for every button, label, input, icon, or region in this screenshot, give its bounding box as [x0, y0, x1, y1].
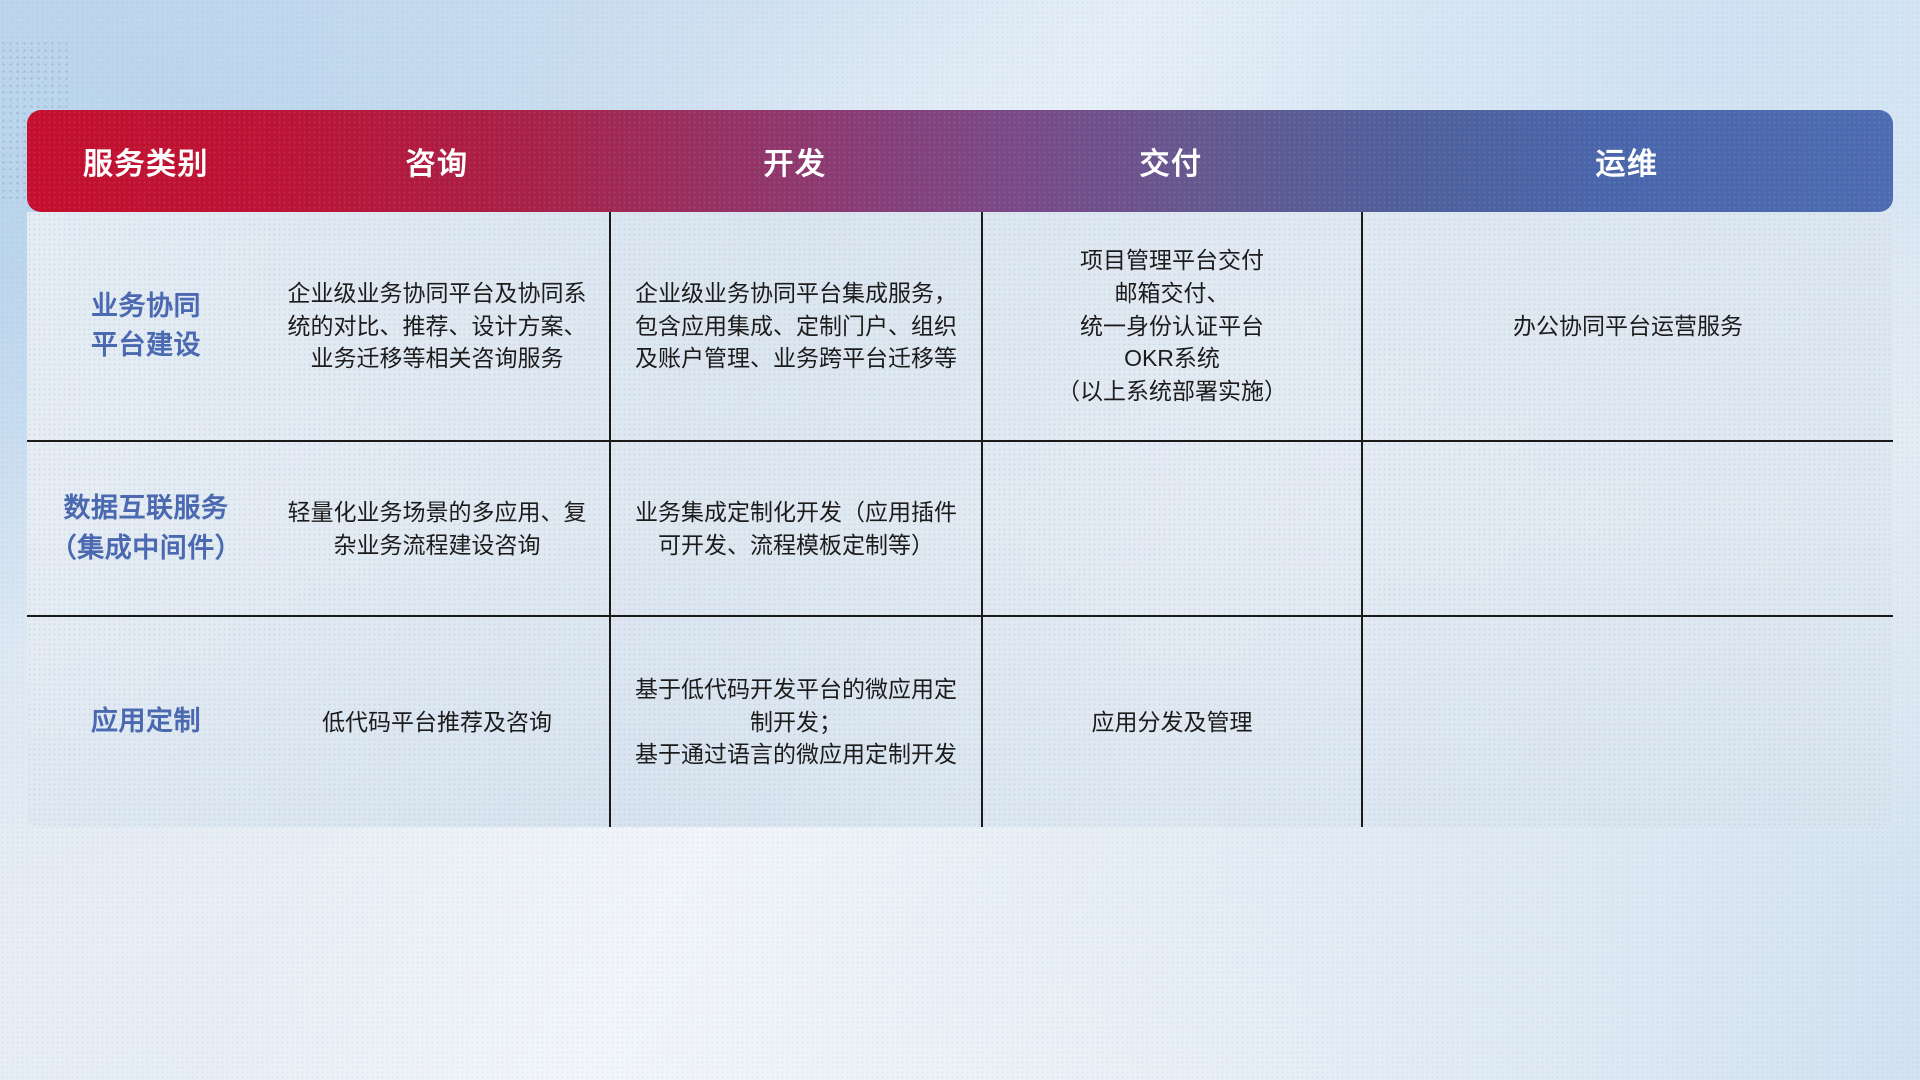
service-matrix-table: 服务类别 咨询 开发 交付 运维 业务协同 平台建设 企业级业务协同平台及协同系…: [27, 110, 1893, 827]
cell-operations: [1361, 442, 1893, 615]
column-header-category: 服务类别: [27, 110, 265, 212]
column-header-operations: 运维: [1361, 110, 1893, 212]
cell-operations: [1361, 617, 1893, 827]
cell-delivery: 项目管理平台交付 邮箱交付、 统一身份认证平台 OKR系统 （以上系统部署实施）: [981, 212, 1361, 440]
cell-consulting: 轻量化业务场景的多应用、复 杂业务流程建设咨询: [265, 442, 609, 615]
column-header-delivery: 交付: [981, 110, 1361, 212]
column-header-development: 开发: [609, 110, 981, 212]
cell-operations: 办公协同平台运营服务: [1361, 212, 1893, 440]
table-header-row: 服务类别 咨询 开发 交付 运维: [27, 110, 1893, 212]
cell-development: 基于低代码开发平台的微应用定 制开发； 基于通过语言的微应用定制开发: [609, 617, 981, 827]
cell-delivery: [981, 442, 1361, 615]
cell-development: 企业级业务协同平台集成服务， 包含应用集成、定制门户、组织 及账户管理、业务跨平…: [609, 212, 981, 440]
cell-development: 业务集成定制化开发（应用插件 可开发、流程模板定制等）: [609, 442, 981, 615]
table-row: 应用定制 低代码平台推荐及咨询 基于低代码开发平台的微应用定 制开发； 基于通过…: [27, 615, 1893, 827]
table-row: 数据互联服务 （集成中间件） 轻量化业务场景的多应用、复 杂业务流程建设咨询 业…: [27, 440, 1893, 615]
cell-consulting: 低代码平台推荐及咨询: [265, 617, 609, 827]
row-category-label: 应用定制: [27, 617, 265, 827]
cell-consulting: 企业级业务协同平台及协同系 统的对比、推荐、设计方案、 业务迁移等相关咨询服务: [265, 212, 609, 440]
column-header-consulting: 咨询: [265, 110, 609, 212]
cell-delivery: 应用分发及管理: [981, 617, 1361, 827]
row-category-label: 业务协同 平台建设: [27, 212, 265, 440]
table-row: 业务协同 平台建设 企业级业务协同平台及协同系 统的对比、推荐、设计方案、 业务…: [27, 212, 1893, 440]
row-category-label: 数据互联服务 （集成中间件）: [27, 442, 265, 615]
table-body: 业务协同 平台建设 企业级业务协同平台及协同系 统的对比、推荐、设计方案、 业务…: [27, 212, 1893, 827]
